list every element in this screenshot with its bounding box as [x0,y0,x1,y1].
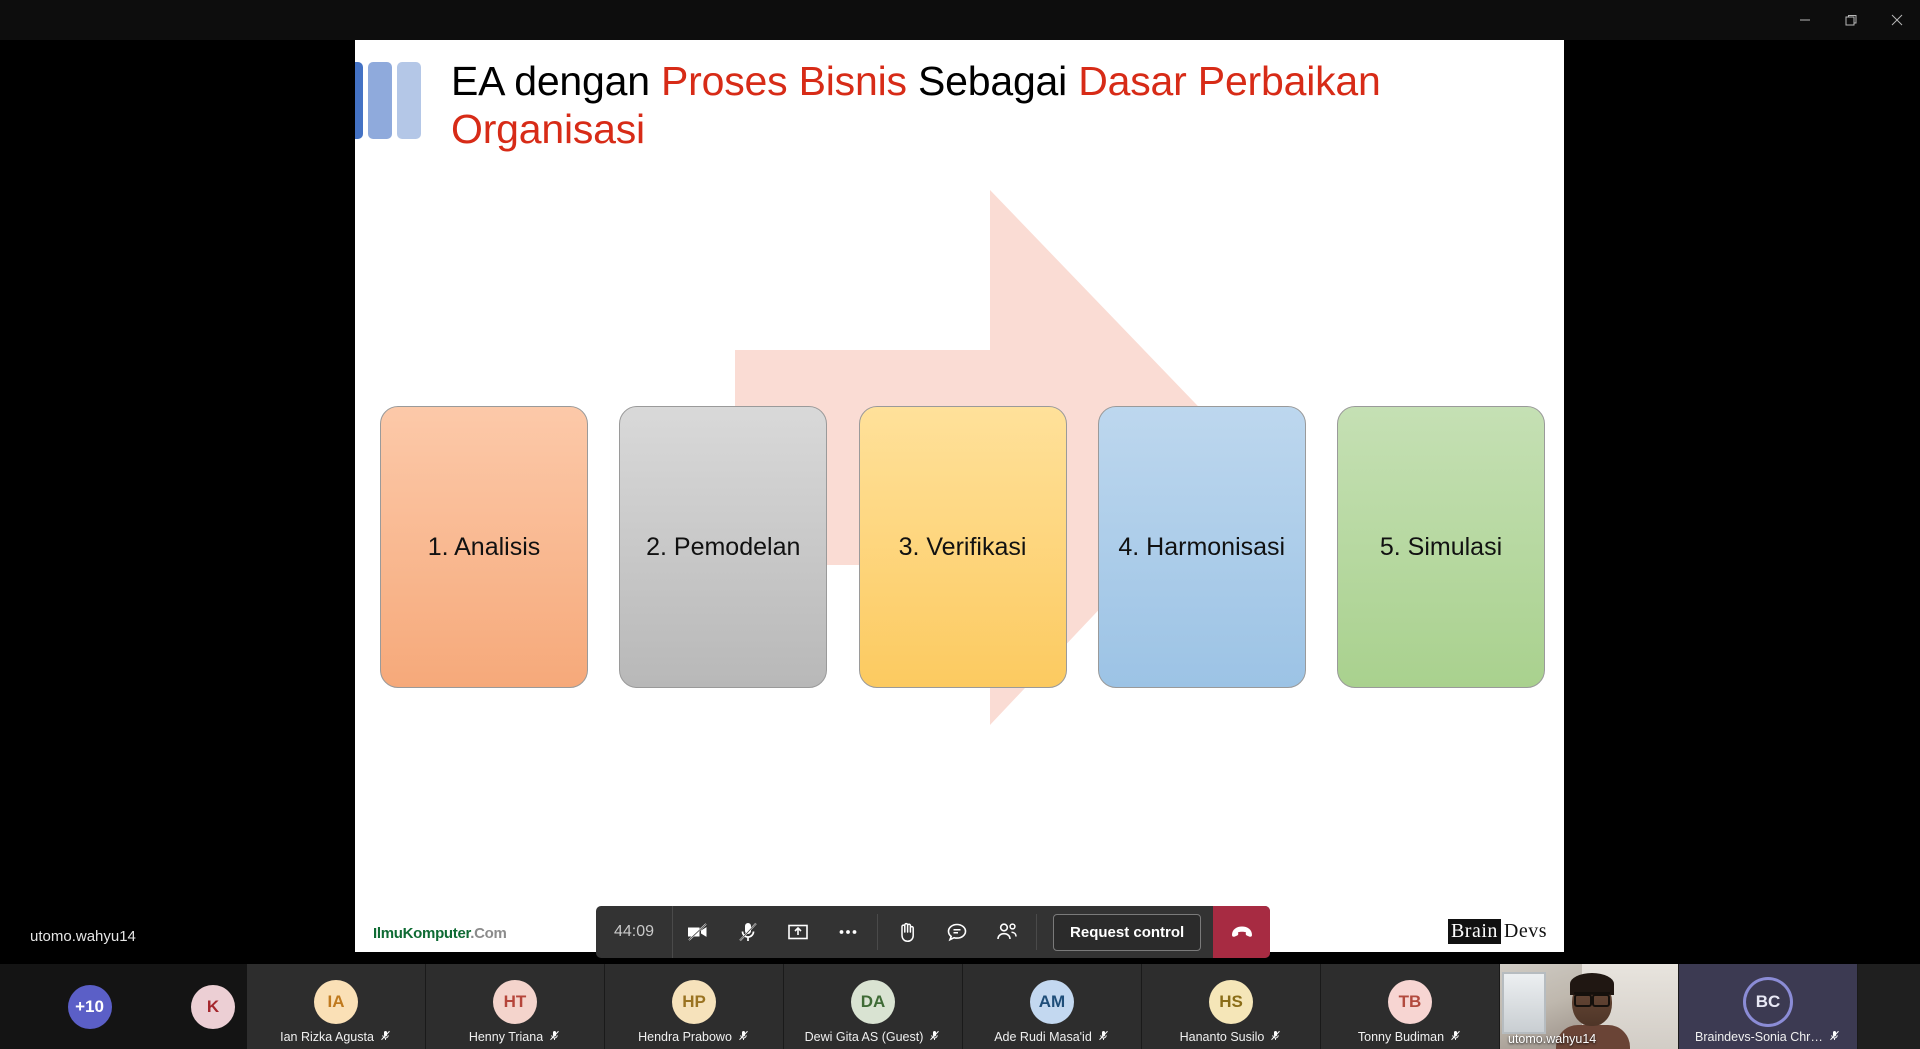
control-group-actions [882,906,1032,958]
participant-name: Hananto Susilo [1180,1030,1265,1044]
share-screen-icon[interactable] [773,906,823,958]
participant-name-row: Hananto Susilo [1142,1029,1320,1045]
request-control-wrapper: Request control [1041,906,1213,958]
avatar-initials: HP [682,992,706,1012]
avatar: HS [1209,980,1253,1024]
restore-icon[interactable] [1828,0,1874,40]
overflow-avatar: +10 [68,985,112,1029]
mic-off-icon [1828,1029,1841,1045]
braindevs-logo-right: Devs [1501,919,1550,944]
participant-name-row: Braindevs-Sonia Chri... [1679,1029,1857,1045]
braindevs-logo: BrainDevs [1448,919,1550,944]
shared-slide[interactable]: EA dengan Proses Bisnis Sebagai Dasar Pe… [355,40,1564,952]
process-box-label: 2. Pemodelan [646,533,800,562]
mic-off-icon[interactable] [723,906,773,958]
avatar-initials: HT [504,992,527,1012]
participant-name: Ian Rizka Agusta [280,1030,374,1044]
avatar: AM [1030,980,1074,1024]
meeting-timer: 44:09 [596,906,673,958]
avatar: BC [1746,980,1790,1024]
avatar-initials: BC [1756,992,1781,1012]
mic-off-icon [379,1029,392,1045]
avatar: TB [1388,980,1432,1024]
braindevs-logo-left: Brain [1448,919,1501,944]
avatar: HT [493,980,537,1024]
participant-name: Hendra Prabowo [638,1030,732,1044]
minimize-icon[interactable] [1782,0,1828,40]
process-box-label: 5. Simulasi [1380,533,1502,562]
participant-name: Tonny Budiman [1358,1030,1444,1044]
glasses-icon [1574,992,1610,1002]
mic-off-icon [737,1029,750,1045]
process-box-label: 1. Analisis [428,533,541,562]
avatar-initials: TB [1399,992,1422,1012]
participant-name: Dewi Gita AS (Guest) [805,1030,924,1044]
process-box-1[interactable]: 1. Analisis [380,406,588,688]
raise-hand-icon[interactable] [882,906,932,958]
participant-tile-henny-triana[interactable]: HT Henny Triana [426,964,605,1049]
control-divider [877,914,878,950]
hangup-button[interactable] [1213,906,1270,958]
control-group-media [673,906,873,958]
process-box-label: 3. Verifikasi [899,533,1027,562]
presenter-name-label: utomo.wahyu14 [30,928,136,945]
slide-title: EA dengan Proses Bisnis Sebagai Dasar Pe… [451,58,1526,153]
avatar-initials: DA [861,992,886,1012]
teams-meeting-window: utomo.wahyu14 EA dengan Proses Bisnis Se… [0,0,1920,1049]
overflow-count: +10 [75,997,104,1017]
participant-name: Braindevs-Sonia Chri... [1695,1030,1823,1044]
avatar: HP [672,980,716,1024]
participant-name-row: Hendra Prabowo [605,1029,783,1045]
avatar: K [191,985,235,1029]
window-title-bar [0,0,1920,40]
participant-name-row: Ade Rudi Masa'id [963,1029,1141,1045]
meeting-control-bar: 44:09 [596,906,1270,958]
process-box-4[interactable]: 4. Harmonisasi [1098,406,1306,688]
mic-off-icon [1269,1029,1282,1045]
logo-bar-3 [397,62,421,139]
process-box-row: 1. Analisis 2. Pemodelan 3. Verifikasi 4… [380,406,1545,688]
participant-tile-tonny-budiman[interactable]: TB Tonny Budiman [1321,964,1500,1049]
mic-off-icon [548,1029,561,1045]
mic-off-icon [1449,1029,1462,1045]
participant-name: Ade Rudi Masa'id [994,1030,1092,1044]
participant-tile-dewi-gita-as[interactable]: DA Dewi Gita AS (Guest) [784,964,963,1049]
participant-tile-hendra-prabowo[interactable]: HP Hendra Prabowo [605,964,784,1049]
title-part-2: Proses Bisnis [661,58,907,104]
video-tile-name: utomo.wahyu14 [1508,1032,1596,1046]
avatar-initials: HS [1219,992,1243,1012]
participant-tile-hananto-susilo[interactable]: HS Hananto Susilo [1142,964,1321,1049]
close-icon[interactable] [1874,0,1920,40]
title-part-3: Sebagai [907,58,1078,104]
avatar-initials: IA [328,992,345,1012]
filmstrip-overflow-tile[interactable]: +10 [0,964,179,1049]
slide-logo-bars [355,62,421,139]
mic-off-icon [928,1029,941,1045]
chat-icon[interactable] [932,906,982,958]
participant-filmstrip: +10 K IA Ian Rizka Agusta [0,964,1920,1049]
participants-icon[interactable] [982,906,1032,958]
participant-name: Henny Triana [469,1030,543,1044]
process-box-5[interactable]: 5. Simulasi [1337,406,1545,688]
logo-bar-1 [355,62,363,139]
filmstrip-extra-tile[interactable]: K [179,964,247,1049]
participant-name-row: Tonny Budiman [1321,1029,1499,1045]
logo-bar-2 [368,62,392,139]
participant-name-row: Dewi Gita AS (Guest) [784,1029,962,1045]
participant-tile-braindevs-sonia[interactable]: BC Braindevs-Sonia Chri... [1679,964,1858,1049]
avatar: IA [314,980,358,1024]
process-box-3[interactable]: 3. Verifikasi [859,406,1067,688]
mic-off-icon [1097,1029,1110,1045]
title-part-1: EA dengan [451,58,661,104]
participant-name-row: Ian Rizka Agusta [247,1029,425,1045]
avatar-initials: K [207,997,219,1017]
process-box-2[interactable]: 2. Pemodelan [619,406,827,688]
participant-tile-ade-rudi-masaid[interactable]: AM Ade Rudi Masa'id [963,964,1142,1049]
participant-video-tile-utomo-wahyu14[interactable]: utomo.wahyu14 [1500,964,1679,1049]
more-options-icon[interactable] [823,906,873,958]
avatar: DA [851,980,895,1024]
request-control-button[interactable]: Request control [1053,914,1201,951]
control-divider [1036,914,1037,950]
participant-tile-ian-rizka-agusta[interactable]: IA Ian Rizka Agusta [247,964,426,1049]
video-window-element [1502,972,1546,1034]
participant-name-row: Henny Triana [426,1029,604,1045]
process-box-label: 4. Harmonisasi [1118,533,1285,562]
avatar-initials: AM [1039,992,1065,1012]
meeting-stage: utomo.wahyu14 EA dengan Proses Bisnis Se… [0,40,1920,964]
camera-off-icon[interactable] [673,906,723,958]
window-controls [1782,0,1920,40]
